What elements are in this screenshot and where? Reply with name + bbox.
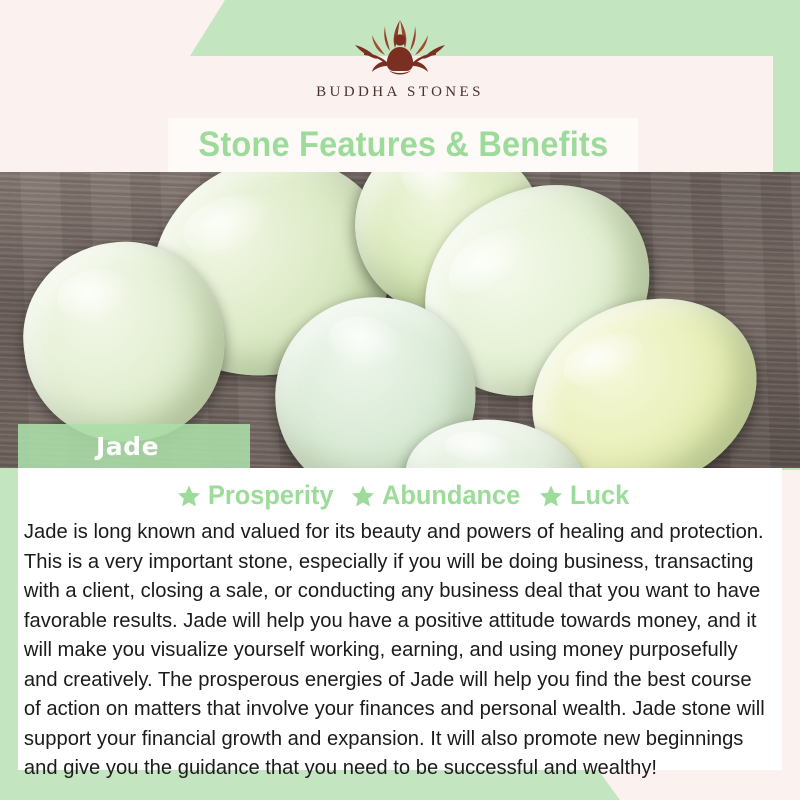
title-banner: Stone Features & Benefits [168,118,638,172]
stone-name-chip: Jade [18,424,250,468]
brand-header: BUDDHA STONES [0,0,800,120]
benefit-item-luck: Luck [539,480,633,511]
lotus-meditation-icon [341,14,459,80]
benefit-label: Abundance [382,480,520,511]
star-icon [351,484,375,508]
benefit-item-prosperity: Prosperity [177,480,342,511]
brand-logo: BUDDHA STONES [316,14,484,101]
star-icon [539,484,563,508]
benefit-item-abundance: Abundance [351,480,529,511]
content-panel: Prosperity Abundance Luck Jade is long k… [18,468,782,770]
stone-info-poster: BUDDHA STONES Stone Features & Benefits … [0,0,800,800]
benefit-label: Prosperity [208,480,334,511]
stone-name-label: Jade [96,432,159,461]
page-title: Stone Features & Benefits [198,125,608,165]
benefits-row: Prosperity Abundance Luck [28,480,782,511]
stone-description: Jade is long known and valued for its be… [18,517,771,783]
star-icon [177,484,201,508]
benefit-label: Luck [570,480,629,511]
brand-wordmark: BUDDHA STONES [316,84,484,101]
